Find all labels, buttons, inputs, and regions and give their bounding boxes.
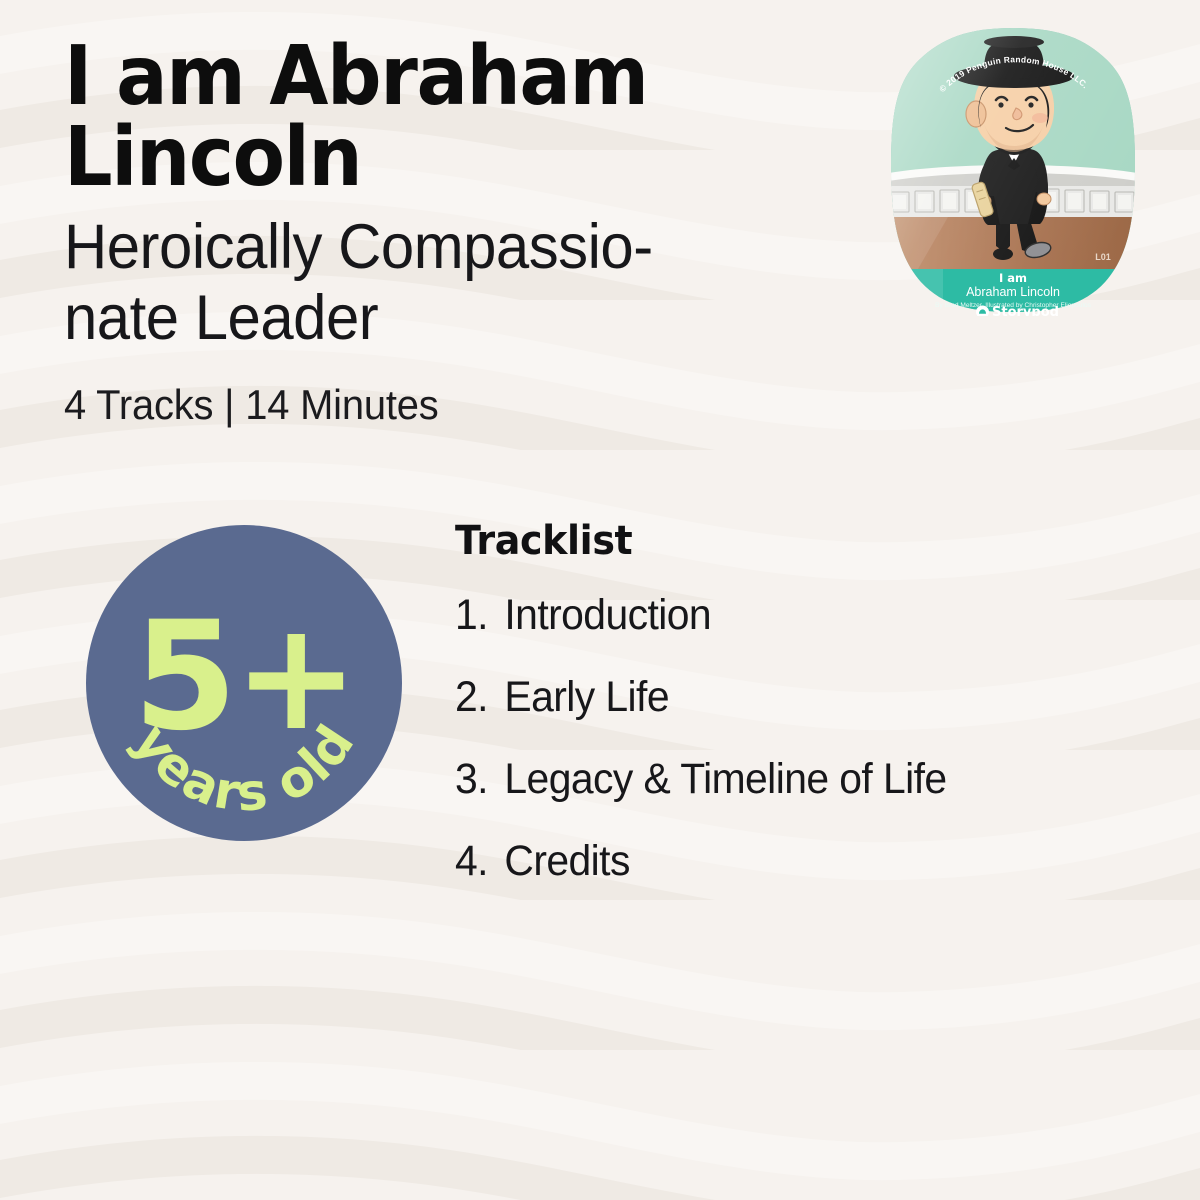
- page-subtitle: Heroically Compassio- nate Leader: [64, 212, 815, 353]
- track-row: 4. Credits: [455, 840, 1120, 883]
- card-title-line2: Abraham Lincoln: [966, 285, 1060, 299]
- tracklist-section: Tracklist 1. Introduction 2. Early Life …: [455, 518, 1155, 922]
- track-number: 3.: [455, 758, 504, 801]
- track-row: 1. Introduction: [455, 594, 1120, 637]
- track-title: Legacy & Timeline of Life: [504, 758, 946, 801]
- track-title: Introduction: [504, 594, 711, 637]
- card-corner-code: L01: [1095, 252, 1111, 262]
- track-title: Early Life: [504, 676, 669, 719]
- age-badge: 5+ years old: [84, 523, 404, 843]
- craftie-card[interactable]: © 2019 Penguin Random House LLC. L01 I a…: [888, 24, 1138, 316]
- headline-block: I am Abraham Lincoln Heroically Compassi…: [64, 36, 854, 429]
- card-title-line1: I am: [999, 271, 1027, 285]
- track-number: 1.: [455, 594, 504, 637]
- page-title: I am Abraham Lincoln: [64, 36, 799, 198]
- tracklist-heading: Tracklist: [455, 518, 1120, 564]
- track-row: 3. Legacy & Timeline of Life: [455, 758, 1120, 801]
- track-number: 2.: [455, 676, 504, 719]
- track-row: 2. Early Life: [455, 676, 1120, 719]
- track-number: 4.: [455, 840, 504, 883]
- track-title: Credits: [504, 840, 629, 883]
- product-detail-page: I am Abraham Lincoln Heroically Compassi…: [0, 0, 1200, 1200]
- track-duration-meta: 4 Tracks | 14 Minutes: [64, 381, 815, 429]
- storypod-wordmark: Storypod: [992, 305, 1059, 316]
